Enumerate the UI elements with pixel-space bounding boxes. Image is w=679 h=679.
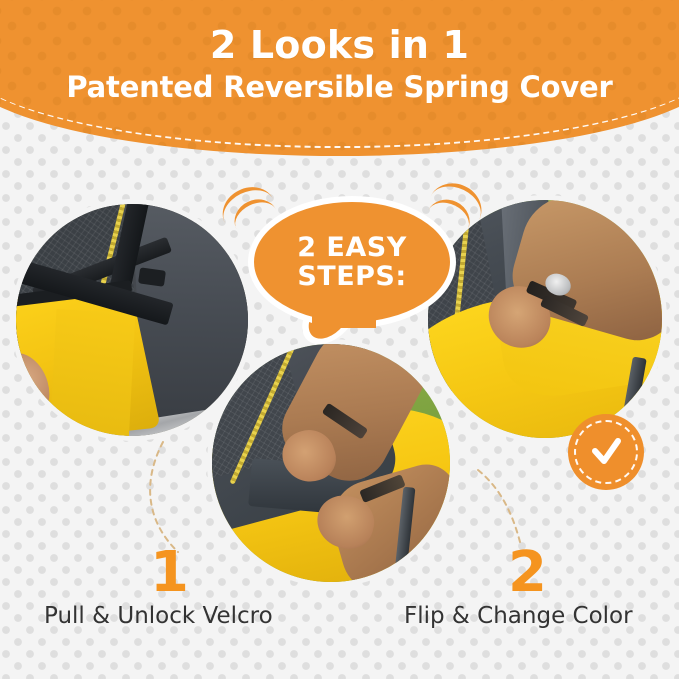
step-caption-two: Flip & Change Color — [404, 605, 633, 628]
photo-cover-yellow-fold — [50, 309, 136, 436]
connector-line-step-one — [150, 442, 178, 552]
step-caption-one: Pull & Unlock Velcro — [44, 605, 273, 628]
callout-line-one: 2 EASY — [297, 233, 407, 262]
page-title: 2 Looks in 1 — [0, 0, 679, 66]
connector-line-step-two — [478, 470, 520, 542]
step-number-one: 1 — [150, 545, 189, 601]
header-text-block: 2 Looks in 1 Patented Reversible Spring … — [0, 0, 679, 104]
check-badge — [568, 414, 644, 490]
callout-bubble-body: 2 EASY STEPS: — [248, 196, 456, 328]
page-subtitle: Patented Reversible Spring Cover — [0, 66, 679, 104]
check-icon — [584, 430, 628, 474]
callout-line-two: STEPS: — [297, 262, 406, 291]
infographic-root: 2 Looks in 1 Patented Reversible Spring … — [0, 0, 679, 679]
callout-tail-blend — [312, 306, 376, 328]
step-number-two: 2 — [508, 545, 547, 601]
photo-step-two — [212, 344, 450, 582]
callout-bubble: 2 EASY STEPS: — [236, 186, 468, 354]
